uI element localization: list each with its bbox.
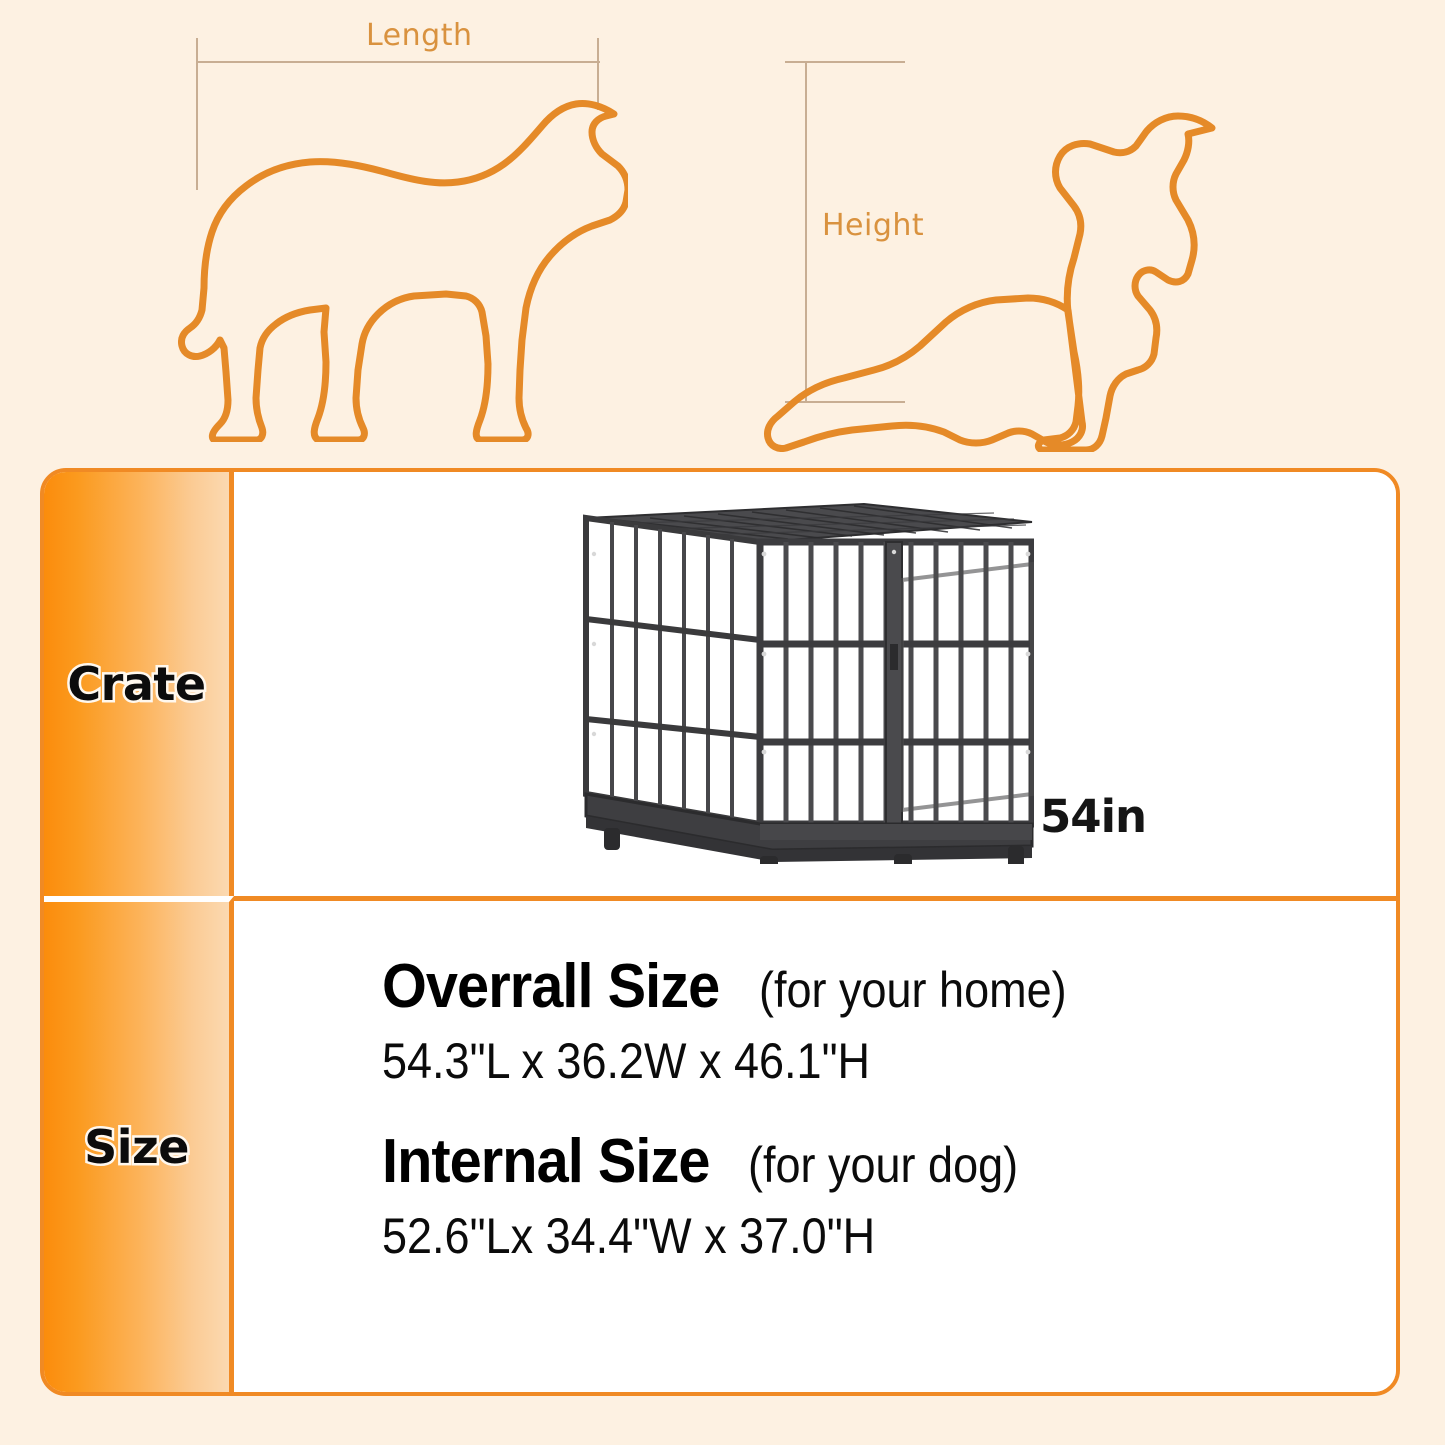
overall-size-note: (for your home) [759, 961, 1067, 1019]
crate-row: Crate [44, 472, 1396, 896]
dog-crate-image [564, 494, 1034, 864]
overall-size-dimensions: 54.3"L x 36.2W x 46.1"H [382, 1032, 1192, 1090]
size-row: Size Overrall Size (for your home) 54.3"… [44, 896, 1396, 1392]
crate-row-label: Crate [67, 657, 205, 711]
internal-size-dimensions: 52.6"Lx 34.4"W x 37.0"H [382, 1207, 1192, 1265]
size-specifications: Overrall Size (for your home) 54.3"L x 3… [382, 951, 1282, 1301]
length-label: Length [366, 18, 472, 53]
crate-size-caption: 54in [1040, 790, 1146, 843]
overall-size-heading: Overrall Size [382, 951, 719, 1022]
overall-size-group: Overrall Size (for your home) 54.3"L x 3… [382, 951, 1282, 1090]
standing-dog-silhouette [178, 52, 628, 442]
crate-row-content: 54in [234, 472, 1396, 896]
spec-card: Crate [40, 468, 1400, 1396]
crate-row-label-cell: Crate [44, 472, 234, 896]
size-row-label: Size [84, 1120, 189, 1174]
size-row-label-cell: Size [44, 896, 234, 1392]
sitting-dog-silhouette [760, 52, 1230, 452]
dog-size-illustration: Length Height [0, 0, 1445, 460]
internal-size-note: (for your dog) [748, 1136, 1018, 1194]
internal-size-group: Internal Size (for your dog) 52.6"Lx 34.… [382, 1126, 1282, 1265]
internal-size-heading: Internal Size [382, 1126, 710, 1197]
size-row-content: Overrall Size (for your home) 54.3"L x 3… [234, 901, 1396, 1392]
